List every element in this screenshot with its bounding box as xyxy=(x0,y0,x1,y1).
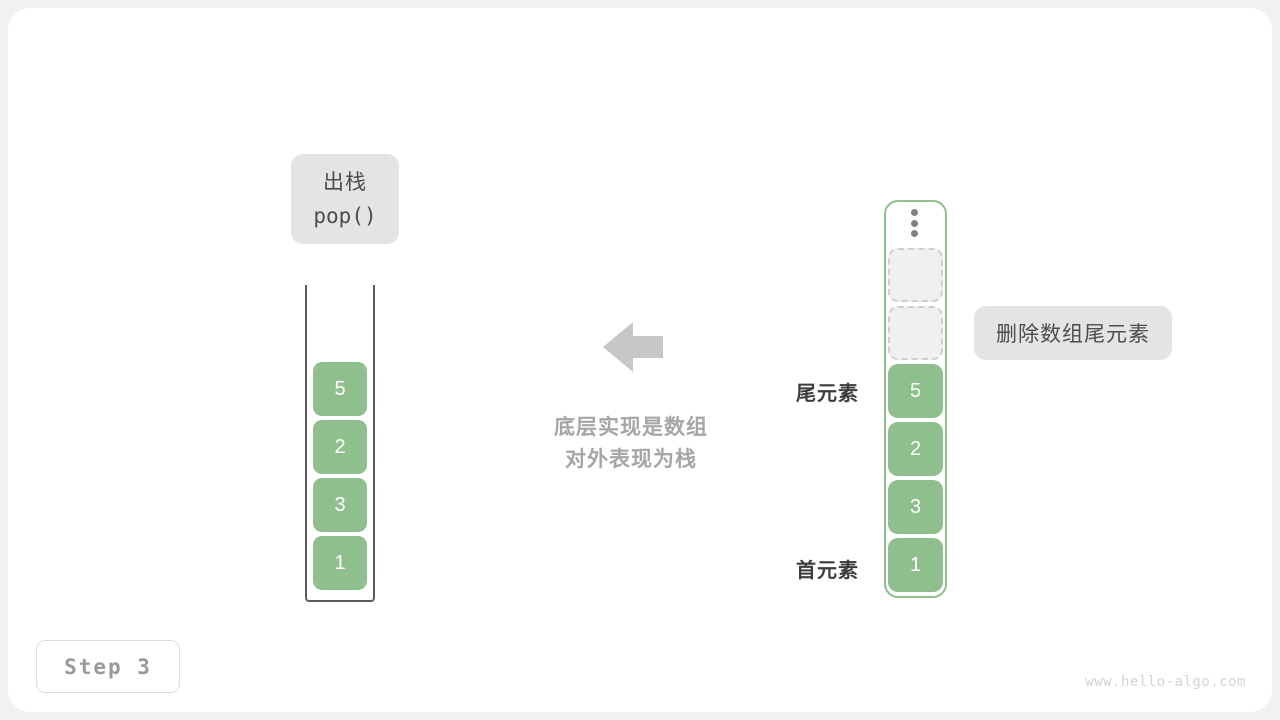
dot xyxy=(911,230,918,237)
array-element: 5 xyxy=(888,364,943,418)
array-head-label: 首元素 xyxy=(749,554,859,583)
step-badge: Step 3 xyxy=(36,640,180,693)
array-slot-list: 5 2 3 1 xyxy=(888,248,943,592)
dot xyxy=(911,209,918,216)
pop-operation-title: 出栈 xyxy=(323,166,367,200)
array-element: 2 xyxy=(888,422,943,476)
watermark: www.hello-algo.com xyxy=(1085,674,1246,690)
pop-operation-code: pop() xyxy=(313,200,376,232)
center-caption-line-1: 底层实现是数组 xyxy=(491,412,771,444)
stack-element: 1 xyxy=(313,536,367,590)
arrow-left-icon xyxy=(603,320,663,374)
vertical-ellipsis-icon xyxy=(910,209,919,237)
delete-tail-callout: 删除数组尾元素 xyxy=(974,306,1172,360)
array-tail-label: 尾元素 xyxy=(749,377,859,406)
stack-element: 5 xyxy=(313,362,367,416)
array-empty-slot xyxy=(888,248,943,302)
stack-element: 3 xyxy=(313,478,367,532)
dot xyxy=(911,220,918,227)
array-empty-slot xyxy=(888,306,943,360)
array-element: 3 xyxy=(888,480,943,534)
array-element: 1 xyxy=(888,538,943,592)
center-caption: 底层实现是数组 对外表现为栈 xyxy=(491,412,771,476)
stack-element: 2 xyxy=(313,420,367,474)
diagram-canvas: 出栈 pop() 5 2 3 1 底层实现是数组 对外表现为栈 5 2 3 1 … xyxy=(0,0,1280,720)
center-caption-line-2: 对外表现为栈 xyxy=(491,444,771,476)
pop-operation-callout: 出栈 pop() xyxy=(291,154,399,244)
stack-element-list: 5 2 3 1 xyxy=(313,362,367,590)
